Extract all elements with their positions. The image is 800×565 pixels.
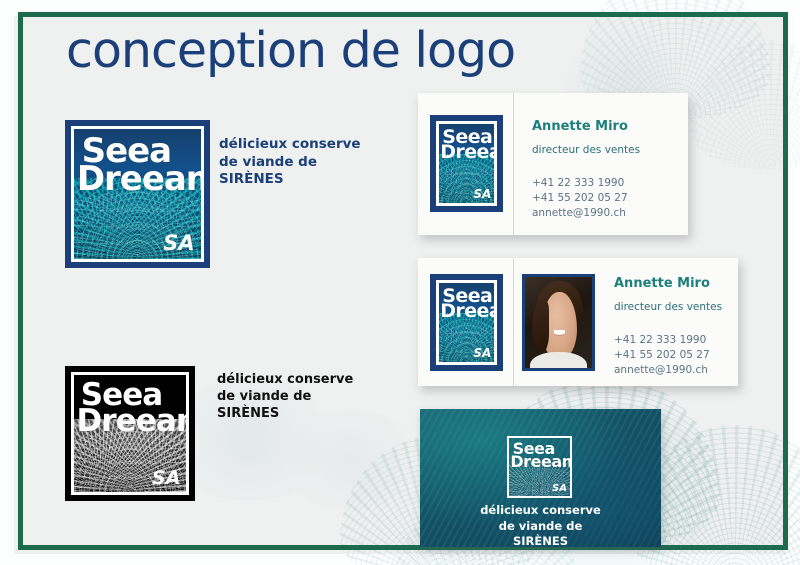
logo-frame: Seea Dreeam SA <box>65 120 210 268</box>
logo-suffix: SA <box>473 346 491 360</box>
promo-tagline: délicieux conserve de viande de SIRÈNES <box>420 503 661 547</box>
business-card-logo-only: Seea Dreeam SA Annette Miro directeur de… <box>418 93 688 235</box>
tagline-line-1: délicieux conserve <box>217 372 353 389</box>
promo-logo-artwork: Seea Dreeam SA <box>509 438 570 496</box>
card-phone-2: +41 55 202 05 27 <box>614 348 710 363</box>
logo-artwork-mono: Seea Dreeam SA <box>71 372 189 495</box>
card-email: annette@1990.ch <box>532 206 628 221</box>
card-contact-details: +41 22 333 1990 +41 55 202 05 27 annette… <box>614 333 710 379</box>
tagline-line-3: SIRÈNES <box>217 406 353 423</box>
card-logo-artwork: Seea Dreeam SA <box>436 121 497 206</box>
logo-wordmark: Seea Dreeam <box>82 138 201 194</box>
logo-wordmark-mono: Seea Dreeam <box>81 383 186 434</box>
logo-line-2: Dreeam <box>510 455 570 468</box>
logo-frame-mono: Seea Dreeam SA <box>65 366 195 501</box>
card-fold <box>513 93 514 235</box>
card-logo-wordmark: Seea Dreeam <box>442 289 494 320</box>
logo-line-2: Dreeam <box>77 409 186 434</box>
card-logo-artwork: Seea Dreeam SA <box>436 280 497 365</box>
promo-line-3: SIRÈNES <box>420 534 661 547</box>
promo-line-1: délicieux conserve <box>420 503 661 519</box>
business-card-with-photo: Seea Dreeam SA Annette Miro directeur de… <box>418 258 738 386</box>
promo-logo: Seea Dreeam SA <box>507 436 572 498</box>
color-logo: Seea Dreeam SA <box>65 120 210 268</box>
portrait-shirt <box>530 352 586 368</box>
tagline-line-3: SIRÈNES <box>219 171 361 189</box>
card-contact-role: directeur des ventes <box>614 301 722 313</box>
logo-line-2: Dreeam <box>440 145 494 161</box>
card-fold <box>513 258 514 386</box>
presentation-page: conception de logo Seea Dreeam SA délici… <box>0 0 800 565</box>
tagline-line-1: délicieux conserve <box>219 136 361 154</box>
card-phone-1: +41 22 333 1990 <box>614 333 710 348</box>
card-phone-2: +41 55 202 05 27 <box>532 191 628 206</box>
promo-logo-wordmark: Seea Dreeam <box>513 442 570 468</box>
card-email: annette@1990.ch <box>614 363 710 378</box>
portrait-photo <box>522 274 595 371</box>
card-logo-wordmark: Seea Dreeam <box>442 130 494 161</box>
logo-line-2: Dreeam <box>440 304 494 320</box>
mono-logo-tagline: délicieux conserve de viande de SIRÈNES <box>217 372 353 423</box>
promo-line-2: de viande de <box>420 519 661 535</box>
promo-card: Seea Dreeam SA délicieux conserve de via… <box>420 409 661 547</box>
logo-suffix: SA <box>473 187 491 201</box>
logo-line-2: Dreeam <box>77 166 201 194</box>
card-contact-name: Annette Miro <box>532 119 628 134</box>
page-title: conception de logo <box>66 22 515 79</box>
card-contact-name: Annette Miro <box>614 276 710 291</box>
logo-suffix: SA <box>163 231 194 255</box>
logo-suffix: SA <box>152 467 180 489</box>
logo-suffix: SA <box>552 483 567 494</box>
portrait-hair-side <box>532 301 549 352</box>
tagline-line-2: de viande de <box>219 154 361 172</box>
card-contact-role: directeur des ventes <box>532 144 640 156</box>
logo-artwork: Seea Dreeam SA <box>71 126 204 262</box>
card-logo: Seea Dreeam SA <box>430 274 503 371</box>
color-logo-tagline: délicieux conserve de viande de SIRÈNES <box>219 136 361 189</box>
card-phone-1: +41 22 333 1990 <box>532 176 628 191</box>
card-contact-details: +41 22 333 1990 +41 55 202 05 27 annette… <box>532 176 628 222</box>
card-logo: Seea Dreeam SA <box>430 115 503 212</box>
mono-logo: Seea Dreeam SA <box>65 366 195 501</box>
tagline-line-2: de viande de <box>217 389 353 406</box>
